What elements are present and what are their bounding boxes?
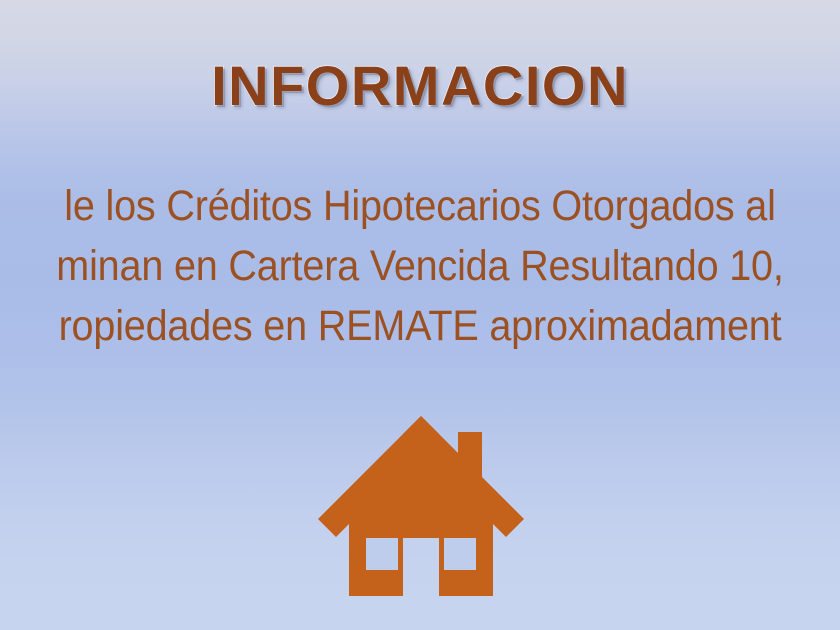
presentation-slide: INFORMACION le los Créditos Hipotecarios…	[0, 0, 840, 630]
slide-body-text: le los Créditos Hipotecarios Otorgados a…	[0, 176, 840, 356]
house-icon	[318, 414, 524, 600]
body-line-1: le los Créditos Hipotecarios Otorgados a…	[0, 176, 840, 236]
page-title: INFORMACION	[211, 58, 629, 114]
slide-title-container: INFORMACION	[0, 58, 840, 114]
body-line-3: ropiedades en REMATE aproximadament	[0, 296, 840, 356]
body-line-2: minan en Cartera Vencida Resultando 10,	[0, 236, 840, 296]
